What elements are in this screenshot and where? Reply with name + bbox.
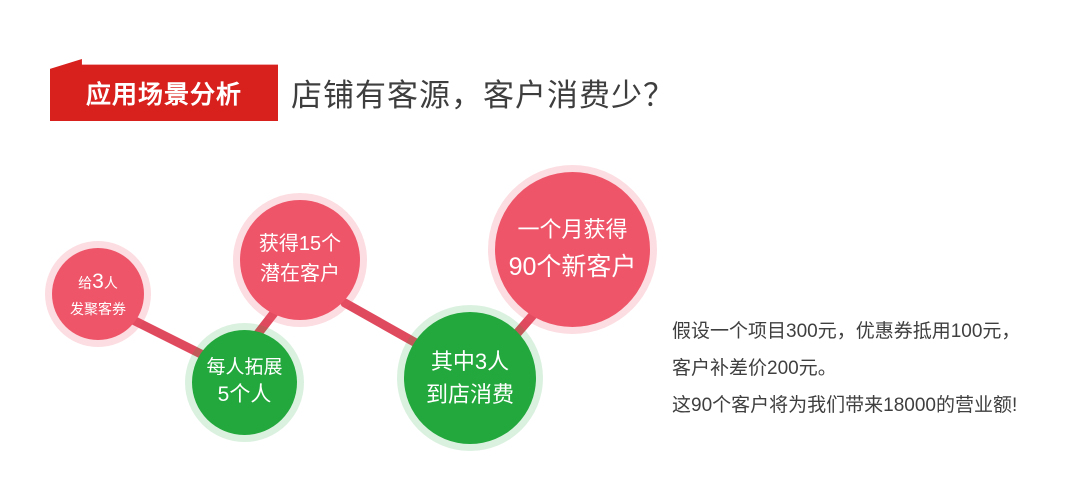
flow-node-1-number: 3: [92, 270, 104, 293]
flow-node-1-prefix: 给: [78, 275, 92, 291]
flow-node-4-line2: 到店消费: [426, 383, 514, 407]
flow-node-1-suffix: 人: [104, 275, 118, 291]
flow-node-2-line2: 5个人: [218, 384, 272, 407]
flow-node-new-customers-monthly[interactable]: 一个月获得 90个新客户: [495, 172, 650, 327]
flow-node-1-line2: 发聚客券: [70, 302, 126, 317]
flow-node-5-line2: 90个新客户: [509, 254, 637, 281]
flow-node-3-line1: 获得15个: [259, 234, 341, 256]
note-line-3: 这90个客户将为我们带来18000的营业额!: [672, 387, 1062, 424]
assumption-note: 假设一个项目300元，优惠券抵用100元， 客户补差价200元。 这90个客户将…: [672, 313, 1062, 424]
flow-node-2-line1: 每人拓展: [206, 358, 282, 379]
flow-node-potential-customers[interactable]: 获得15个 潜在客户: [240, 200, 360, 320]
flow-node-4-line1: 其中3人: [431, 350, 509, 374]
flow-node-5-line1: 一个月获得: [517, 218, 627, 242]
note-line-1: 假设一个项目300元，优惠券抵用100元，: [672, 313, 1062, 350]
flow-node-3-line2: 潜在客户: [260, 264, 340, 286]
flow-node-give-coupons[interactable]: 给3人 发聚客券: [52, 248, 144, 340]
slide-canvas: 应用场景分析 店铺有客源，客户消费少？ 给3人 发聚客券 每人拓展 5个人 获得: [0, 0, 1080, 493]
flow-node-expand-per-person[interactable]: 每人拓展 5个人: [192, 330, 297, 435]
flow-node-in-store-consumption[interactable]: 其中3人 到店消费: [404, 312, 536, 444]
flow-node-1-line1: 给3人: [78, 271, 118, 294]
note-line-2: 客户补差价200元。: [672, 350, 1062, 387]
